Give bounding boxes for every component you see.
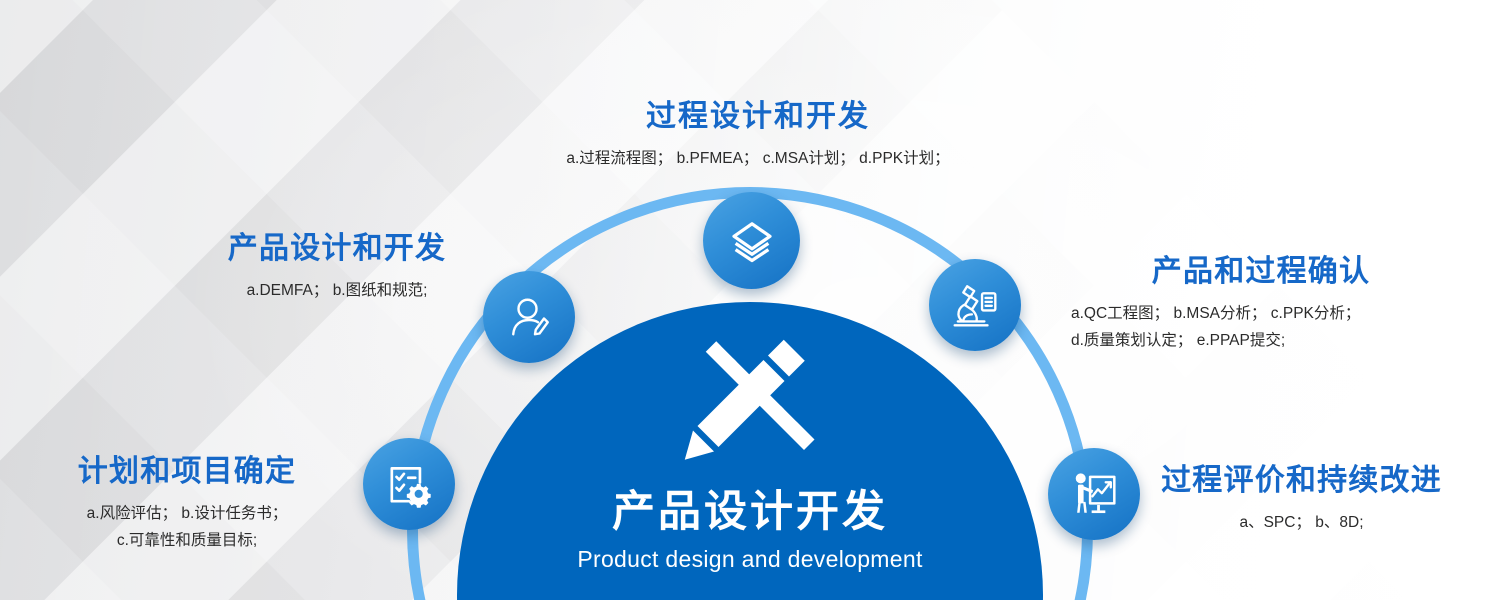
hub-subtitle: Product design and development [577, 548, 922, 571]
node-planning[interactable] [363, 438, 455, 530]
block-planning: 计划和项目确定 a.风险评估； b.设计任务书； c.可靠性和质量目标; [72, 455, 302, 554]
pencil-ruler-icon [675, 330, 825, 485]
block-validation-line-2: d.质量策划认定； e.PPAP提交; [1071, 332, 1285, 349]
block-process-design: 过程设计和开发 a.过程流程图； b.PFMEA； c.MSA计划； d.PPK… [553, 100, 963, 172]
block-product-design-title: 产品设计和开发 [222, 232, 452, 267]
hub-title: 产品设计开发 [612, 491, 888, 534]
node-process-evaluation-improvement[interactable] [1048, 448, 1140, 540]
node-product-process-validation[interactable] [929, 259, 1021, 351]
block-improvement-line-1: a、SPC； b、8D; [1159, 509, 1444, 536]
node-process-design[interactable] [703, 192, 800, 289]
block-process-design-title: 过程设计和开发 [553, 100, 963, 135]
node-product-design[interactable] [483, 271, 575, 363]
block-planning-title: 计划和项目确定 [72, 455, 302, 490]
layers-icon [727, 216, 777, 266]
block-validation-lines: a.QC工程图； b.MSA分析； c.PPK分析； d.质量策划认定； e.P… [1071, 300, 1451, 354]
user-pencil-icon [505, 293, 553, 341]
apqp-product-design-banner: 产品设计开发 Product design and development [0, 0, 1500, 600]
block-planning-line-1: a.风险评估； b.设计任务书； [87, 505, 288, 522]
block-product-design-line-1: a.DEMFA； b.图纸和规范; [222, 277, 452, 304]
block-validation-line-1: a.QC工程图； b.MSA分析； c.PPK分析； [1071, 305, 1360, 322]
block-planning-lines: a.风险评估； b.设计任务书； c.可靠性和质量目标; [72, 500, 302, 554]
checklist-gear-icon [384, 459, 434, 509]
block-process-design-line-1: a.过程流程图； b.PFMEA； c.MSA计划； d.PPK计划； [553, 145, 963, 172]
block-product-design: 产品设计和开发 a.DEMFA； b.图纸和规范; [222, 232, 452, 304]
block-validation: 产品和过程确认 a.QC工程图； b.MSA分析； c.PPK分析； d.质量策… [1071, 255, 1451, 354]
block-validation-title: 产品和过程确认 [1071, 255, 1451, 290]
block-planning-line-2: c.可靠性和质量目标; [117, 532, 257, 549]
presenter-chart-icon [1069, 469, 1119, 519]
block-improvement-title: 过程评价和持续改进 [1159, 464, 1444, 499]
block-improvement: 过程评价和持续改进 a、SPC； b、8D; [1159, 464, 1444, 536]
microscope-report-icon [950, 280, 1000, 330]
